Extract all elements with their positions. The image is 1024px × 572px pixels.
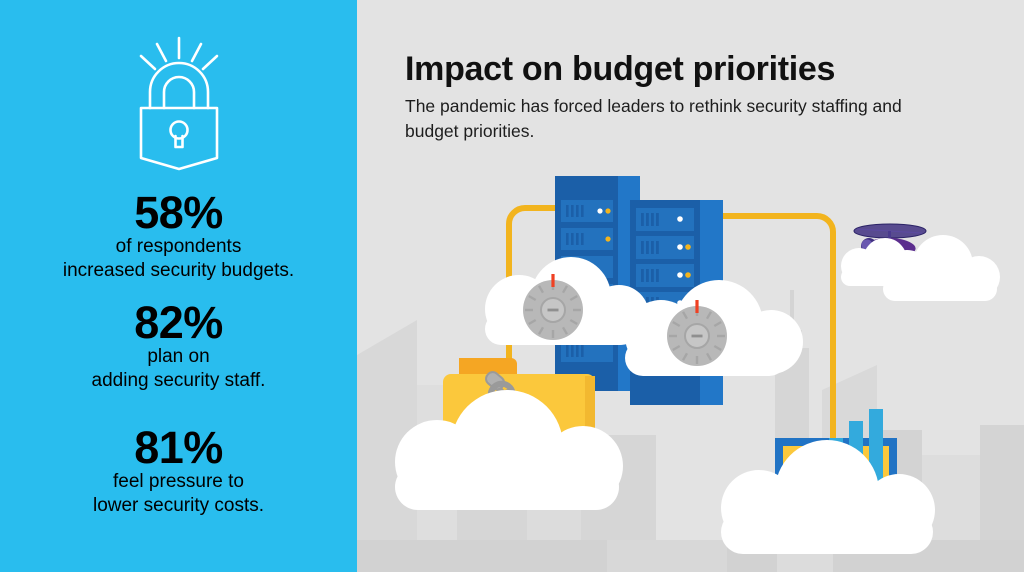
stat-line: adding security staff. <box>0 369 357 393</box>
stat-block-2: 81% feel pressure to lower security cost… <box>0 425 357 519</box>
stat-number: 81% <box>0 425 357 470</box>
page-subtitle: The pandemic has forced leaders to rethi… <box>405 94 915 144</box>
heading-group: Impact on budget priorities The pandemic… <box>405 50 965 144</box>
left-stats-panel: 58% of respondents increased security bu… <box>0 0 357 572</box>
stat-block-1: 82% plan on adding security staff. <box>0 300 357 394</box>
stat-line: plan on <box>0 345 357 369</box>
stat-number: 58% <box>0 190 357 235</box>
padlock-icon <box>0 30 357 180</box>
stat-number: 82% <box>0 300 357 345</box>
stat-line: feel pressure to <box>0 470 357 494</box>
stat-line: lower security costs. <box>0 494 357 518</box>
infographic-slide: 58% of respondents increased security bu… <box>0 0 1024 572</box>
stat-line: increased security budgets. <box>0 259 357 283</box>
stat-line: of respondents <box>0 235 357 259</box>
page-title: Impact on budget priorities <box>405 50 965 88</box>
stat-block-0: 58% of respondents increased security bu… <box>0 190 357 284</box>
right-content-panel: Impact on budget priorities The pandemic… <box>357 0 1024 572</box>
